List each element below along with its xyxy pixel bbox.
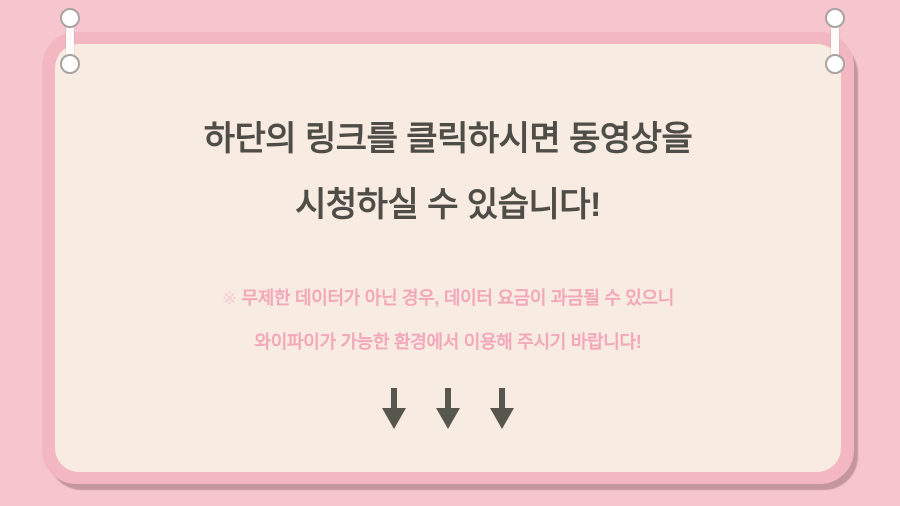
arrow-group — [55, 364, 841, 430]
reference-mark-icon: ※ — [222, 288, 237, 308]
arrow-down-icon — [381, 388, 407, 430]
notice-line-2: 와이파이가 가능한 환경에서 이용해 주시기 바랍니다! — [55, 320, 841, 364]
notice-line-1: ※ 무제한 데이터가 아닌 경우, 데이터 요금이 과금될 수 있으니 — [55, 276, 841, 320]
data-usage-notice: ※ 무제한 데이터가 아닌 경우, 데이터 요금이 과금될 수 있으니 와이파이… — [55, 238, 841, 364]
pin-ring-top-icon — [60, 8, 80, 28]
headline: 하단의 링크를 클릭하시면 동영상을 시청하실 수 있습니다! — [55, 44, 841, 238]
headline-line-2: 시청하실 수 있습니다! — [55, 172, 841, 238]
arrow-down-icon — [489, 388, 515, 430]
poster-canvas: 하단의 링크를 클릭하시면 동영상을 시청하실 수 있습니다! ※ 무제한 데이… — [0, 0, 900, 506]
notice-line-1-text: 무제한 데이터가 아닌 경우, 데이터 요금이 과금될 수 있으니 — [241, 288, 674, 308]
arrow-down-icon — [435, 388, 461, 430]
pin-ring-top-icon — [825, 8, 845, 28]
headline-line-1: 하단의 링크를 클릭하시면 동영상을 — [55, 106, 841, 172]
card-content: 하단의 링크를 클릭하시면 동영상을 시청하실 수 있습니다! ※ 무제한 데이… — [55, 44, 841, 472]
